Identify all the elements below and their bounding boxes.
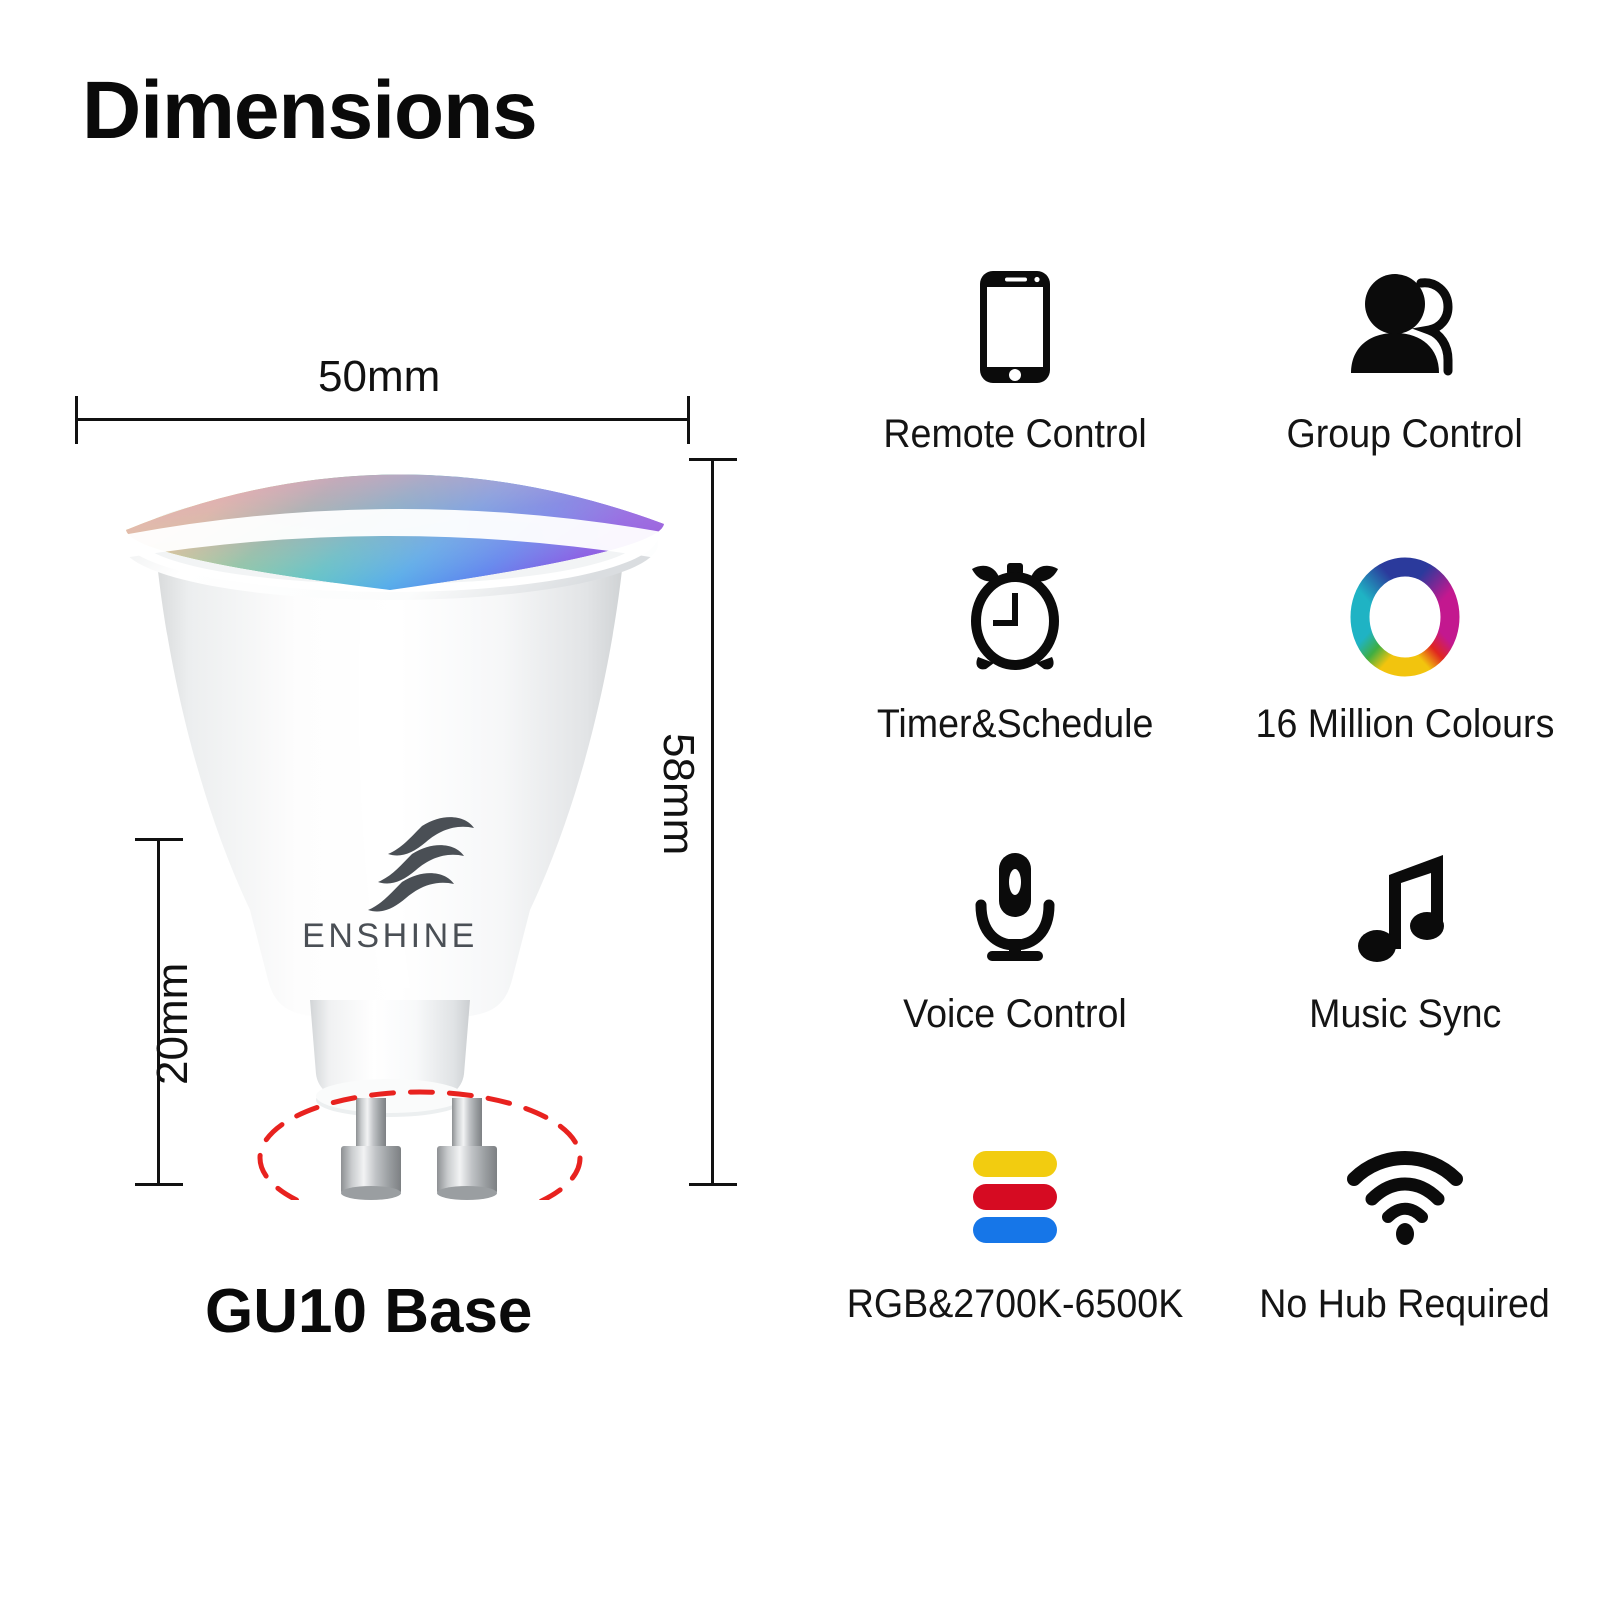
color-bar-red — [973, 1184, 1057, 1210]
smartphone-icon — [940, 264, 1090, 390]
people-group-icon — [1330, 264, 1480, 390]
gu10-pin-right-shaft — [452, 1098, 482, 1154]
color-bar-yellow — [973, 1151, 1057, 1177]
height-dimension-label: 58mm — [653, 733, 703, 855]
music-note-icon — [1330, 844, 1480, 970]
height-tick-bottom — [689, 1183, 737, 1186]
feature-remote-control: Remote Control — [820, 250, 1210, 540]
wifi-icon — [1330, 1134, 1480, 1260]
feature-label: Timer&Schedule — [877, 702, 1154, 747]
base-type-caption: GU10 Base — [205, 1276, 532, 1347]
feature-label: RGB&2700K-6500K — [847, 1282, 1184, 1327]
brand-name: ENSHINE — [302, 917, 478, 955]
width-dimension-line — [75, 418, 690, 421]
feature-label: Voice Control — [903, 992, 1127, 1037]
feature-no-hub: No Hub Required — [1210, 1120, 1600, 1410]
gu10-pin-left-shaft — [356, 1098, 386, 1154]
color-bar-blue — [973, 1217, 1057, 1243]
feature-label: Music Sync — [1309, 992, 1501, 1037]
infographic-page: Dimensions 50mm — [0, 0, 1600, 1600]
feature-timer-schedule: Timer&Schedule — [820, 540, 1210, 830]
feature-grid: Remote Control Group Control — [820, 250, 1600, 1410]
feature-label: No Hub Required — [1260, 1282, 1551, 1327]
feature-colours: 16 Million Colours — [1210, 540, 1600, 830]
base-tick-bottom — [135, 1183, 183, 1186]
feature-group-control: Group Control — [1210, 250, 1600, 540]
microphone-icon — [940, 844, 1090, 970]
color-bars-icon — [940, 1134, 1090, 1260]
feature-voice-control: Voice Control — [820, 830, 1210, 1120]
feature-music-sync: Music Sync — [1210, 830, 1600, 1120]
dimensions-panel: 50mm — [0, 0, 820, 1600]
feature-label: 16 Million Colours — [1256, 702, 1555, 747]
feature-label: Group Control — [1287, 412, 1523, 457]
base-tick-top — [135, 838, 183, 841]
height-dimension-line — [711, 458, 714, 1186]
width-tick-right — [687, 396, 690, 444]
color-wheel-icon — [1330, 554, 1480, 680]
height-tick-top — [689, 458, 737, 461]
width-dimension-label: 50mm — [318, 352, 440, 402]
feature-label: Remote Control — [883, 412, 1146, 457]
alarm-clock-icon — [940, 554, 1090, 680]
feature-rgb-cct: RGB&2700K-6500K — [820, 1120, 1210, 1410]
base-dimension-label: 20mm — [148, 963, 198, 1085]
width-tick-left — [75, 396, 78, 444]
